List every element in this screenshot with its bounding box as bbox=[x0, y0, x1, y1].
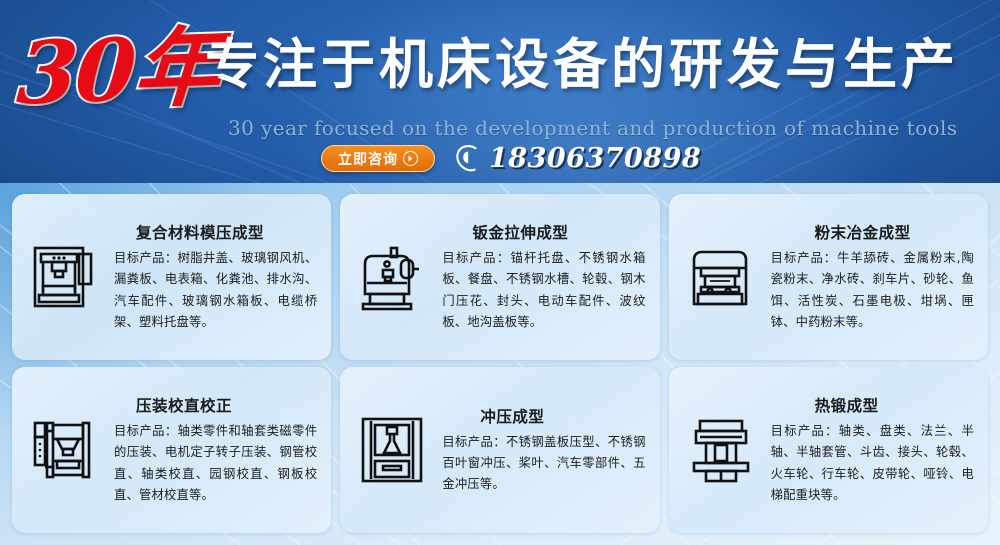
years-badge: 30年 bbox=[15, 25, 221, 118]
card-title: 冲压成型 bbox=[442, 405, 645, 427]
card-description: 目标产品：牛羊舔砖、金属粉末,陶瓷粉末、净水砖、刹车片、砂轮、鱼饵、活性炭、石墨… bbox=[771, 248, 974, 333]
card-powder-metallurgy[interactable]: 粉末冶金成型 目标产品：牛羊舔砖、金属粉末,陶瓷粉末、净水砖、刹车片、砂轮、鱼饵… bbox=[669, 194, 988, 360]
card-text-2: 钣金拉伸成型 目标产品：锚杆托盘、不锈钢水箱板、餐盘、不锈钢水槽、轮毂、钢木门压… bbox=[442, 221, 647, 333]
card-title: 热锻成型 bbox=[771, 394, 974, 416]
stamping-press-icon bbox=[354, 410, 434, 490]
hydraulic-molding-press-icon bbox=[26, 237, 106, 317]
consult-now-button[interactable]: 立即咨询 bbox=[321, 145, 435, 172]
phone-contact[interactable]: 18306370898 bbox=[455, 143, 701, 174]
promo-banner: 30年 专注于机床设备的研发与生产 30 year focused on the… bbox=[0, 0, 1000, 545]
card-press-fitting-straightening[interactable]: 压装校直校正 目标产品：轴类零件和轴套类磁零件的压装、电机定子转子压装、钢管校直… bbox=[12, 367, 331, 533]
card-title: 钣金拉伸成型 bbox=[442, 221, 645, 243]
headline-title: 专注于机床设备的研发与生产 bbox=[205, 38, 959, 92]
card-text-1: 复合材料模压成型 目标产品：树脂井盖、玻璃钢风机、漏粪板、电表箱、化粪池、排水沟… bbox=[114, 221, 319, 333]
card-text-6: 热锻成型 目标产品：轴类、盘类、法兰、半轴、半轴套管、斗齿、接头、轮毂、火车轮、… bbox=[771, 394, 976, 506]
card-description: 目标产品：树脂井盖、玻璃钢风机、漏粪板、电表箱、化粪池、排水沟、汽车配件、玻璃钢… bbox=[114, 248, 317, 333]
card-description: 目标产品：轴类、盘类、法兰、半轴、半轴套管、斗齿、接头、轮毂、火车轮、行车轮、皮… bbox=[771, 421, 974, 506]
card-description: 目标产品：锚杆托盘、不锈钢水箱板、餐盘、不锈钢水槽、轮毂、钢木门压花、封头、电动… bbox=[442, 248, 645, 333]
card-stamping-forming[interactable]: 冲压成型 目标产品：不锈钢盖板压型、不锈钢百叶窗冲压、桨叶、汽车零部件、五金冲压… bbox=[340, 367, 659, 533]
card-text-4: 压装校直校正 目标产品：轴类零件和轴套类磁零件的压装、电机定子转子压装、钢管校直… bbox=[114, 394, 319, 506]
sheet-metal-stretching-press-icon bbox=[354, 237, 434, 317]
card-composite-molding[interactable]: 复合材料模压成型 目标产品：树脂井盖、玻璃钢风机、漏粪板、电表箱、化粪池、排水沟… bbox=[12, 194, 331, 360]
card-title: 压装校直校正 bbox=[114, 394, 317, 416]
powder-metallurgy-press-icon bbox=[683, 237, 763, 317]
card-sheet-metal-stretching[interactable]: 钣金拉伸成型 目标产品：锚杆托盘、不锈钢水箱板、餐盘、不锈钢水槽、轮毂、钢木门压… bbox=[340, 194, 659, 360]
card-title: 复合材料模压成型 bbox=[114, 221, 317, 243]
banner-header: 30年 专注于机床设备的研发与生产 30 year focused on the… bbox=[0, 0, 1000, 183]
consult-now-label: 立即咨询 bbox=[338, 149, 398, 169]
card-text-3: 粉末冶金成型 目标产品：牛羊舔砖、金属粉末,陶瓷粉末、净水砖、刹车片、砂轮、鱼饵… bbox=[771, 221, 976, 333]
phone-number: 18306370898 bbox=[489, 143, 701, 174]
card-hot-forging[interactable]: 热锻成型 目标产品：轴类、盘类、法兰、半轴、半轴套管、斗齿、接头、轮毂、火车轮、… bbox=[669, 367, 988, 533]
press-fitting-straightening-icon bbox=[26, 410, 106, 490]
cards-section: 复合材料模压成型 目标产品：树脂井盖、玻璃钢风机、漏粪板、电表箱、化粪池、排水沟… bbox=[0, 183, 1000, 545]
card-description: 目标产品：轴类零件和轴套类磁零件的压装、电机定子转子压装、钢管校直、轴类校直、园… bbox=[114, 421, 317, 506]
circle-arrow-right-icon bbox=[403, 151, 418, 166]
headline-subtitle-english: 30 year focused on the development and p… bbox=[228, 116, 957, 140]
card-title: 粉末冶金成型 bbox=[771, 221, 974, 243]
hot-forging-press-icon bbox=[683, 410, 763, 490]
telephone-handset-icon bbox=[455, 145, 481, 173]
card-text-5: 冲压成型 目标产品：不锈钢盖板压型、不锈钢百叶窗冲压、桨叶、汽车零部件、五金冲压… bbox=[442, 405, 647, 495]
card-description: 目标产品：不锈钢盖板压型、不锈钢百叶窗冲压、桨叶、汽车零部件、五金冲压等。 bbox=[442, 432, 645, 495]
cards-grid: 复合材料模压成型 目标产品：树脂井盖、玻璃钢风机、漏粪板、电表箱、化粪池、排水沟… bbox=[0, 183, 1000, 545]
